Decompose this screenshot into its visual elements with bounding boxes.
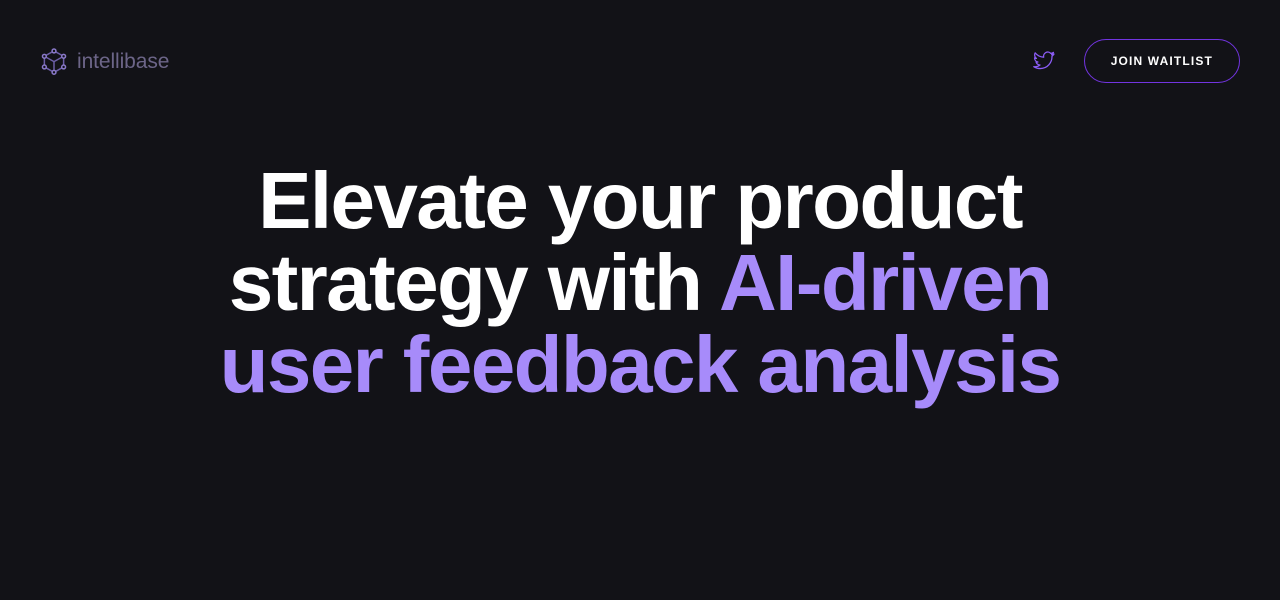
headline-line-2-plain: strategy with — [229, 238, 719, 327]
site-header: intellibase JOIN WAITLIST — [0, 0, 1280, 122]
brand-logo[interactable]: intellibase — [40, 47, 169, 75]
brand-name: intellibase — [77, 51, 169, 72]
twitter-link[interactable] — [1031, 48, 1057, 74]
headline-line-1: Elevate your product — [258, 156, 1022, 245]
page-title: Elevate your product strategy with AI-dr… — [210, 160, 1070, 406]
header-actions: JOIN WAITLIST — [1031, 39, 1240, 83]
cube-node-icon — [40, 47, 68, 75]
hero-section: Elevate your product strategy with AI-dr… — [0, 160, 1280, 406]
headline-line-2-accent: AI-driven — [719, 238, 1051, 327]
join-waitlist-button[interactable]: JOIN WAITLIST — [1084, 39, 1240, 83]
twitter-icon — [1032, 49, 1056, 73]
headline-line-3-accent: user feedback analysis — [220, 320, 1061, 409]
